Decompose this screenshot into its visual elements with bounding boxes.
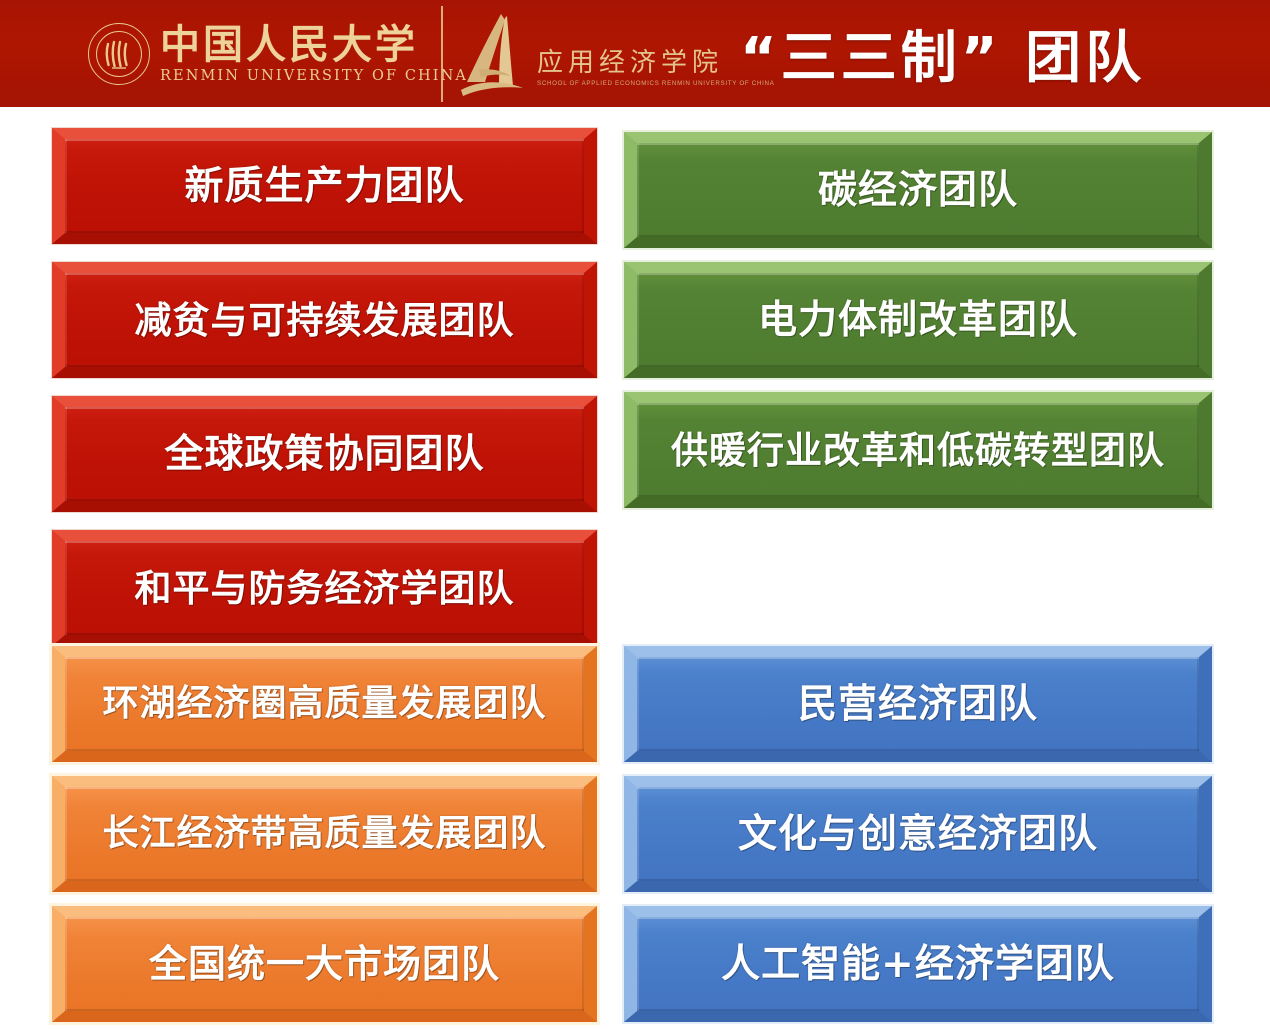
team-button-left-1[interactable]: 新质生产力团队 xyxy=(52,128,597,244)
school-name-cn: 应用经济学院 xyxy=(537,48,775,78)
team-button-left-2[interactable]: 减贫与可持续发展团队 xyxy=(52,262,597,378)
team-button-label: 新质生产力团队 xyxy=(184,167,464,206)
team-button-label: 环湖经济圈高质量发展团队 xyxy=(102,686,546,722)
university-wordmark: 中国人民大学 RENMIN UNIVERSITY OF CHINA xyxy=(160,24,468,85)
team-button-label: 全球政策协同团队 xyxy=(164,435,484,474)
school-wordmark: 应用经济学院 SCHOOL OF APPLIED ECONOMICS RENMI… xyxy=(537,48,775,100)
team-button-label: 供暖行业改革和低碳转型团队 xyxy=(671,432,1165,469)
page-header: 中国人民大学 RENMIN UNIVERSITY OF CHINA 应用经济学院… xyxy=(0,0,1270,107)
page-title: “三三制” 团队 xyxy=(740,8,1160,98)
team-button-label: 民营经济团队 xyxy=(798,685,1038,724)
teams-board: 新质生产力团队减贫与可持续发展团队全球政策协同团队和平与防务经济学团队环湖经济圈… xyxy=(0,107,1270,1029)
team-button-left-5[interactable]: 环湖经济圈高质量发展团队 xyxy=(52,646,597,762)
team-button-right-2[interactable]: 电力体制改革团队 xyxy=(624,262,1212,378)
team-button-left-3[interactable]: 全球政策协同团队 xyxy=(52,396,597,512)
sail-mark-icon xyxy=(455,10,533,100)
ruc-seal-icon xyxy=(88,23,150,85)
team-button-left-7[interactable]: 全国统一大市场团队 xyxy=(52,906,597,1022)
team-button-label: 全国统一大市场团队 xyxy=(149,945,500,983)
school-name-en: SCHOOL OF APPLIED ECONOMICS RENMIN UNIVE… xyxy=(537,79,775,88)
team-button-label: 人工智能+经济学团队 xyxy=(721,945,1115,984)
team-button-right-4[interactable]: 民营经济团队 xyxy=(624,646,1212,762)
team-button-left-4[interactable]: 和平与防务经济学团队 xyxy=(52,530,597,646)
school-logo: 应用经济学院 SCHOOL OF APPLIED ECONOMICS RENMI… xyxy=(455,8,775,100)
team-button-right-5[interactable]: 文化与创意经济团队 xyxy=(624,776,1212,892)
team-button-label: 电力体制改革团队 xyxy=(758,301,1078,340)
seal-strokes-icon xyxy=(89,24,149,84)
team-button-right-3[interactable]: 供暖行业改革和低碳转型团队 xyxy=(624,392,1212,508)
team-button-label: 长江经济带高质量发展团队 xyxy=(102,816,546,852)
university-name-en: RENMIN UNIVERSITY OF CHINA xyxy=(160,67,468,85)
team-button-left-6[interactable]: 长江经济带高质量发展团队 xyxy=(52,776,597,892)
logo-divider xyxy=(441,6,443,102)
team-button-right-1[interactable]: 碳经济团队 xyxy=(624,132,1212,248)
team-button-right-6[interactable]: 人工智能+经济学团队 xyxy=(624,906,1212,1022)
university-name-cn: 中国人民大学 xyxy=(160,24,468,66)
team-button-label: 和平与防务经济学团队 xyxy=(135,570,515,607)
team-button-label: 减贫与可持续发展团队 xyxy=(135,302,515,339)
team-button-label: 碳经济团队 xyxy=(818,171,1018,210)
team-button-label: 文化与创意经济团队 xyxy=(738,815,1098,854)
university-logo: 中国人民大学 RENMIN UNIVERSITY OF CHINA xyxy=(88,12,468,96)
